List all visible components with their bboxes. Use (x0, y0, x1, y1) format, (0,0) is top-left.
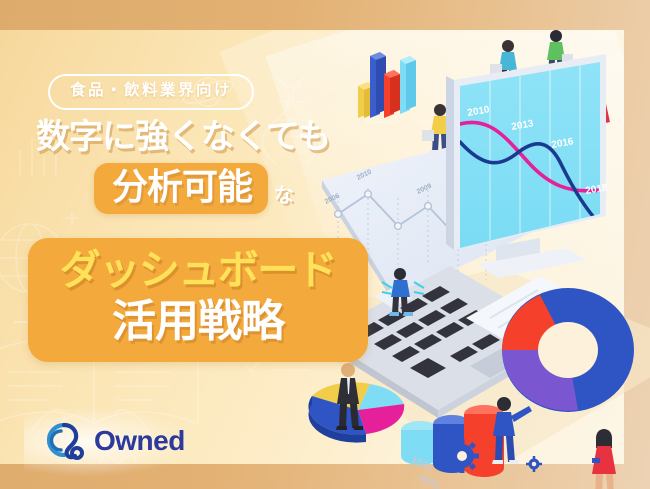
owned-swirl-icon (38, 418, 86, 464)
board-bars (358, 52, 416, 118)
headline-line-1: 数字に強くなくても (36, 120, 330, 154)
headline-line-2-suffix: な (274, 186, 294, 206)
headline-highlight-box: 分析可能 (94, 163, 268, 214)
title-box: ダッシュボード 活用戦略 (28, 238, 368, 362)
brand-logo: Owned (38, 418, 185, 464)
donut-chart (502, 288, 634, 412)
banner-canvas: Sale! (0, 0, 650, 489)
headline-line-2: 分析可能 (112, 169, 252, 205)
headline-line-2-group: 分析可能 な (94, 163, 294, 214)
logo-wordmark: Owned (94, 427, 185, 455)
monitor-chart: 2010 2013 2016 2018 (446, 54, 609, 278)
target-audience-badge: 食品・飲料業界向け (48, 74, 254, 110)
gear-icon-tiny (526, 456, 542, 472)
title-line-2: 活用戦略 (28, 300, 368, 344)
person-woman-red (592, 429, 618, 489)
title-line-1: ダッシュボード (28, 250, 368, 291)
gear-icon-large (445, 439, 479, 473)
